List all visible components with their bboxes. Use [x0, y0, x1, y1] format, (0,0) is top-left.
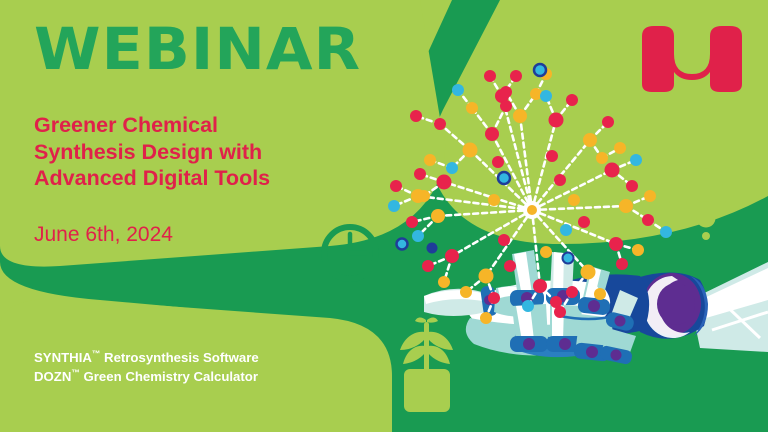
product-name: DOZN [34, 369, 71, 384]
product-desc: Retrosynthesis Software [100, 350, 258, 365]
webinar-date: June 6th, 2024 [34, 222, 173, 248]
product-name: SYNTHIA [34, 350, 92, 365]
product-item-dozn: DOZN™ Green Chemistry Calculator [34, 367, 259, 386]
subtitle-line-2: Synthesis Design with [34, 139, 354, 166]
webinar-banner: WEBINAR Greener Chemical Synthesis Desig… [0, 0, 768, 432]
subtitle-line-1: Greener Chemical [34, 112, 354, 139]
product-item-synthia: SYNTHIA™ Retrosynthesis Software [34, 348, 259, 367]
subtitle-line-3: Advanced Digital Tools [34, 165, 354, 192]
page-title: WEBINAR [34, 20, 361, 78]
trademark-symbol: ™ [71, 368, 80, 378]
product-desc: Green Chemistry Calculator [80, 369, 258, 384]
product-list: SYNTHIA™ Retrosynthesis Software DOZN™ G… [34, 348, 259, 386]
webinar-subtitle: Greener Chemical Synthesis Design with A… [34, 112, 354, 192]
